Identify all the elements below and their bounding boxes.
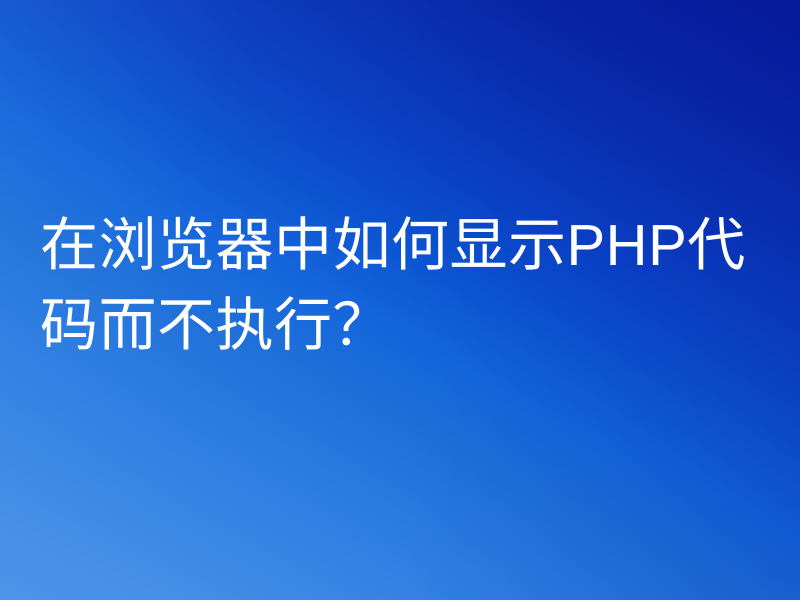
banner-canvas: 在浏览器中如何显示PHP代码而不执行？ [0,0,800,600]
headline-text: 在浏览器中如何显示PHP代码而不执行？ [40,206,782,366]
headline-block: 在浏览器中如何显示PHP代码而不执行？ [40,206,782,366]
